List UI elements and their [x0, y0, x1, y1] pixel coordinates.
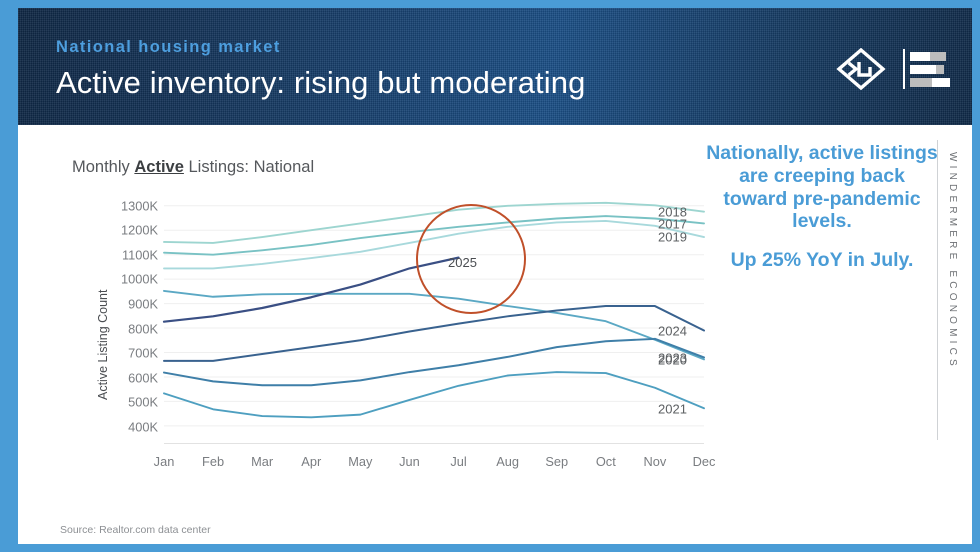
x-tick-Oct: Oct	[596, 454, 616, 469]
header-kicker: National housing market	[56, 38, 281, 57]
y-tick-700K: 700K	[128, 346, 158, 361]
slide-header: National housing market Active inventory…	[18, 8, 972, 125]
windermere-w-diamond-icon	[835, 48, 887, 90]
page-title: Active inventory: rising but moderating	[56, 65, 585, 101]
x-tick-Sep: Sep	[545, 454, 568, 469]
x-tick-Apr: Apr	[301, 454, 321, 469]
series-end-label-2021: 2021	[658, 402, 687, 417]
series-end-label-2019: 2019	[658, 230, 687, 245]
y-tick-600K: 600K	[128, 370, 158, 385]
chart-title-prefix: Monthly	[72, 158, 134, 176]
annotation-2025-label: 2025	[448, 255, 477, 270]
brand-rail: WINDERMERE ECONOMICS	[937, 140, 958, 440]
y-tick-500K: 500K	[128, 395, 158, 410]
x-tick-May: May	[348, 454, 372, 469]
x-tick-Jun: Jun	[399, 454, 420, 469]
y-tick-1200K: 1200K	[121, 223, 158, 238]
y-tick-1000K: 1000K	[121, 272, 158, 287]
bar-chart-mark-icon	[903, 49, 950, 89]
chart-plot-area: 400K500K600K700K800K900K1000K1100K1200K1…	[104, 196, 704, 464]
chart-title: Monthly Active Listings: National	[72, 158, 314, 177]
chart-title-suffix: Listings: National	[184, 158, 314, 176]
series-line-2024	[164, 306, 704, 361]
y-tick-900K: 900K	[128, 297, 158, 312]
series-line-2025	[164, 258, 459, 322]
series-line-2021	[164, 372, 704, 417]
y-tick-400K: 400K	[128, 419, 158, 434]
y-tick-1300K: 1300K	[121, 198, 158, 213]
rail-text: WINDERMERE ECONOMICS	[947, 140, 958, 370]
x-tick-Jul: Jul	[450, 454, 466, 469]
y-tick-1100K: 1100K	[122, 247, 158, 262]
x-tick-Mar: Mar	[251, 454, 273, 469]
commentary-panel: Nationally, active listings are creeping…	[706, 142, 938, 272]
x-tick-Jan: Jan	[154, 454, 175, 469]
chart-title-emphasis: Active	[134, 158, 184, 176]
y-tick-800K: 800K	[128, 321, 158, 336]
rail-divider	[937, 140, 938, 440]
series-end-label-2017: 2017	[658, 216, 687, 231]
slide: National housing market Active inventory…	[0, 0, 980, 552]
y-axis-tick-labels: 400K500K600K700K800K900K1000K1100K1200K1…	[104, 196, 158, 464]
x-axis-tick-labels: JanFebMarAprMayJunJulAugSepOctNovDec	[164, 454, 704, 474]
slide-content: National housing market Active inventory…	[18, 8, 972, 544]
commentary-line-1: Nationally, active listings are creeping…	[706, 142, 938, 233]
brand-logo	[835, 48, 950, 90]
x-tick-Feb: Feb	[202, 454, 224, 469]
source-note: Source: Realtor.com data center	[60, 524, 211, 536]
series-end-label-2020: 2020	[658, 353, 687, 368]
series-end-label-2024: 2024	[658, 324, 687, 339]
commentary-line-2: Up 25% YoY in July.	[706, 249, 938, 272]
series-line-2020	[164, 291, 704, 359]
x-tick-Aug: Aug	[496, 454, 519, 469]
